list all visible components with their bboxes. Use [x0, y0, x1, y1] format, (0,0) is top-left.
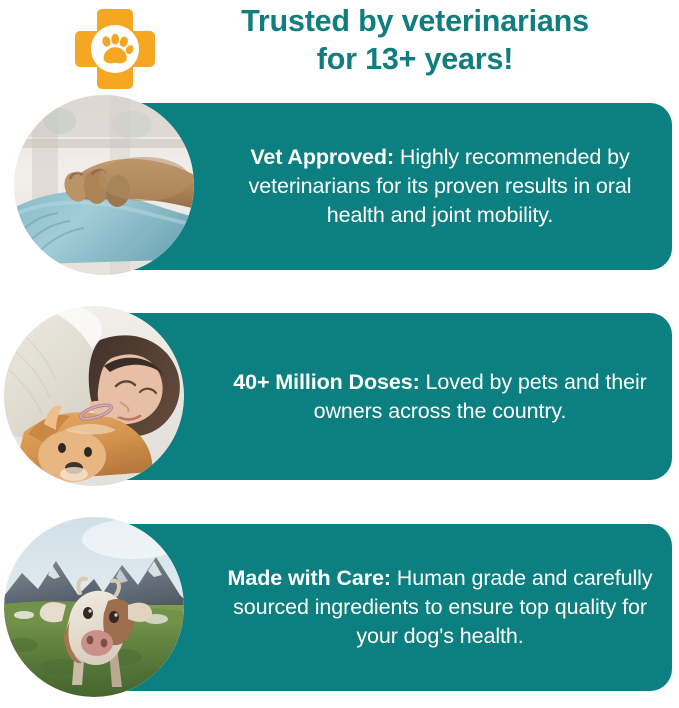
page-title: Trusted by veterinarians for 13+ years! [160, 2, 670, 78]
feature-lead: 40+ Million Doses: [233, 370, 419, 394]
feature-text: 40+ Million Doses: Loved by pets and the… [224, 368, 656, 426]
feature-row: 40+ Million Doses: Loved by pets and the… [0, 300, 679, 492]
trust-badges-infographic: Trusted by veterinarians for 13+ years! … [0, 0, 679, 708]
headline-line-1: Trusted by veterinarians [160, 2, 670, 40]
feature-text: Made with Care: Human grade and carefull… [224, 564, 656, 651]
feature-lead: Vet Approved: [250, 145, 394, 169]
vet-cross-paw-badge-icon [72, 6, 158, 92]
dog-paw-on-gloved-hand-photo [14, 95, 194, 275]
feature-row: Vet Approved: Highly recommended by vete… [0, 90, 679, 282]
woman-hugging-shiba-inu-photo [4, 306, 184, 486]
header: Trusted by veterinarians for 13+ years! [0, 0, 679, 98]
feature-row: Made with Care: Human grade and carefull… [0, 511, 679, 703]
cow-in-mountain-pasture-photo [4, 517, 184, 697]
feature-text: Vet Approved: Highly recommended by vete… [224, 143, 656, 230]
feature-lead: Made with Care: [228, 566, 391, 590]
headline-line-2: for 13+ years! [160, 40, 670, 78]
